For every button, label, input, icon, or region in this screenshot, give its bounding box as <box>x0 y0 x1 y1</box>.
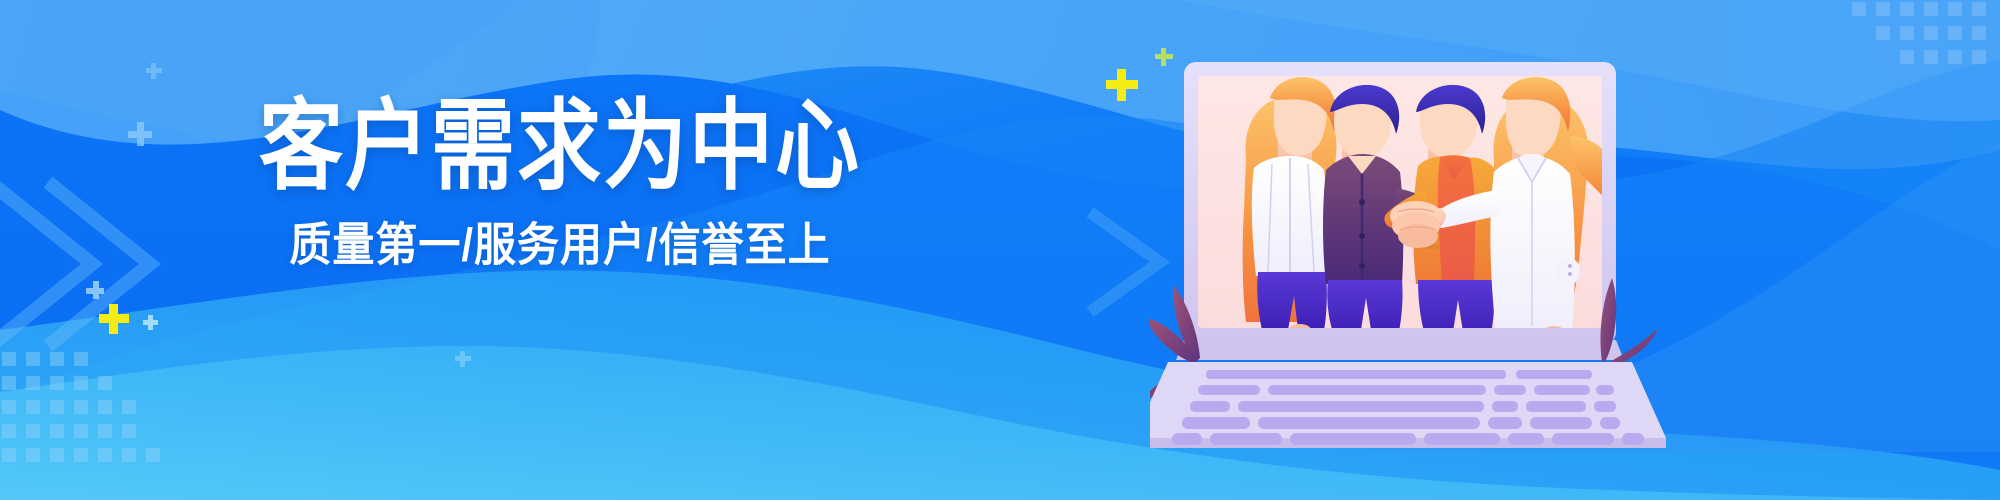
plus-cyan-top-icon <box>146 63 162 79</box>
plus-cyan-low-icon <box>86 281 104 299</box>
plus-yellow-bottom-icon <box>99 304 129 334</box>
plus-cyan-mid-icon <box>455 351 471 367</box>
plus-cyan-upper-icon <box>128 122 152 146</box>
page-title: 客户需求为中心 <box>250 96 870 195</box>
page-subtitle: 质量第一/服务用户/信誉至上 <box>250 222 870 268</box>
laptop-team-illustration <box>1150 40 1690 460</box>
plus-yellow-large-icon <box>1106 69 1138 101</box>
laptop-hinge <box>1176 340 1624 360</box>
promo-banner: 客户需求为中心 质量第一/服务用户/信誉至上 <box>0 0 2000 500</box>
plus-cyan-bottom-icon <box>143 315 158 330</box>
headline-block: 客户需求为中心 质量第一/服务用户/信誉至上 <box>250 96 870 264</box>
team-scene <box>1243 77 1628 338</box>
